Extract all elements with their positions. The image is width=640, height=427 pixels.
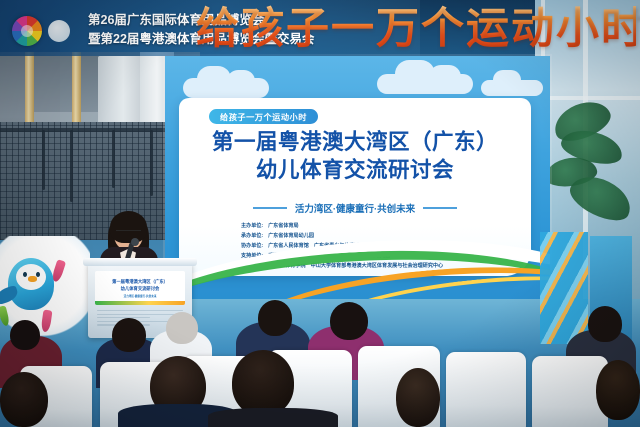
striped-decor-panel: [540, 232, 588, 344]
led-stage-screen: 给孩子一万个运动小时 第一届粤港澳大湾区（广东） 幼儿体育交流研讨会 活力湾区·…: [165, 56, 550, 304]
audience-person: [166, 312, 198, 344]
podium-sign-line1: 第一届粤港澳大湾区（广东）: [112, 279, 168, 285]
event-slogan-badge: 给孩子一万个运动小时: [209, 109, 318, 124]
chair: [446, 352, 526, 427]
audience-person: [258, 300, 292, 336]
podium-sign: 第一届粤港澳大湾区（广东） 幼儿体育交流研讨会 活力湾区·健康童行·共创未来: [95, 271, 185, 305]
audience-person: [330, 302, 368, 340]
organizer-row: 主办单位: 广东省体育局: [241, 222, 521, 232]
audience-person: [112, 318, 146, 352]
audience-person: [588, 306, 622, 342]
event-tagline: 活力湾区·健康童行·共创未来: [179, 201, 531, 215]
microphone-head-icon: [131, 238, 139, 246]
event-title-line2: 幼儿体育交流研讨会: [179, 156, 531, 184]
audience-person: [232, 350, 294, 416]
audience-person: [208, 408, 338, 427]
pinwheel-logo-icon: [12, 16, 42, 46]
event-title: 第一届粤港澳大湾区（广东） 幼儿体育交流研讨会: [179, 128, 531, 185]
secondary-logo-icon: [48, 20, 70, 42]
audience-person: [10, 320, 40, 350]
audience-person: [0, 372, 48, 427]
event-title-line1: 第一届粤港澳大湾区（广东）: [179, 128, 531, 156]
audience-person: [396, 368, 440, 427]
podium-sign-line2: 幼儿体育交流研讨会: [121, 286, 160, 292]
audience-person: [596, 360, 640, 420]
tagline-text: 活力湾区·健康童行·共创未来: [295, 201, 415, 215]
tagline-rule-right: [423, 207, 457, 209]
photo-canvas: 给孩子一万个运动小时 第一届粤港澳大湾区（广东） 幼儿体育交流研讨会 活力湾区·…: [0, 0, 640, 427]
tagline-rule-left: [253, 207, 287, 209]
overlay-headline: 给孩子一万个运动小时: [196, 2, 636, 56]
glasses-icon: [116, 230, 141, 237]
podium-sign-line3: 活力湾区·健康童行·共创未来: [124, 294, 157, 298]
